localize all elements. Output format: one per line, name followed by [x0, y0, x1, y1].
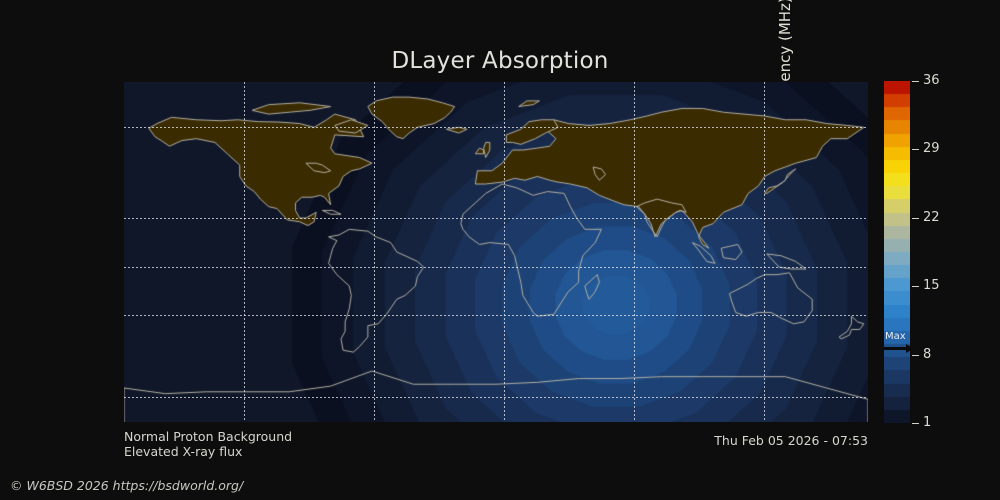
colorbar-tick-label: 8: [923, 346, 931, 363]
colorbar-tick-dash: [912, 355, 919, 356]
colorbar-tick-dash: [912, 286, 919, 287]
absorption-contour-layer: [124, 82, 868, 422]
colorbar-tick-dash: [912, 81, 919, 82]
status-annotations: Normal Proton Background Elevated X-ray …: [124, 429, 292, 459]
colorbar-tick-dash: [912, 149, 919, 150]
annotation-proton-background: Normal Proton Background: [124, 429, 292, 444]
colorbar-tick-label: 22: [923, 209, 940, 226]
colorbar-ticks: 3629221581: [910, 81, 956, 423]
colorbar-gradient: [884, 81, 910, 423]
colorbar-tick-label: 36: [923, 72, 940, 89]
colorbar-tick-label: 29: [923, 140, 940, 157]
page-title: DLayer Absorption: [0, 48, 1000, 74]
colorbar[interactable]: 3629221581: [884, 81, 910, 423]
colorbar-tick-label: 15: [923, 277, 940, 294]
map-panel[interactable]: [124, 82, 868, 422]
copyright-notice: © W6BSD 2026 https://bsdworld.org/: [10, 478, 243, 493]
annotation-xray-flux: Elevated X-ray flux: [124, 444, 292, 459]
colorbar-tick-dash: [912, 218, 919, 219]
colorbar-tick-dash: [912, 423, 919, 424]
timestamp: Thu Feb 05 2026 - 07:53: [714, 433, 868, 448]
colorbar-tick-label: 1: [923, 414, 931, 431]
